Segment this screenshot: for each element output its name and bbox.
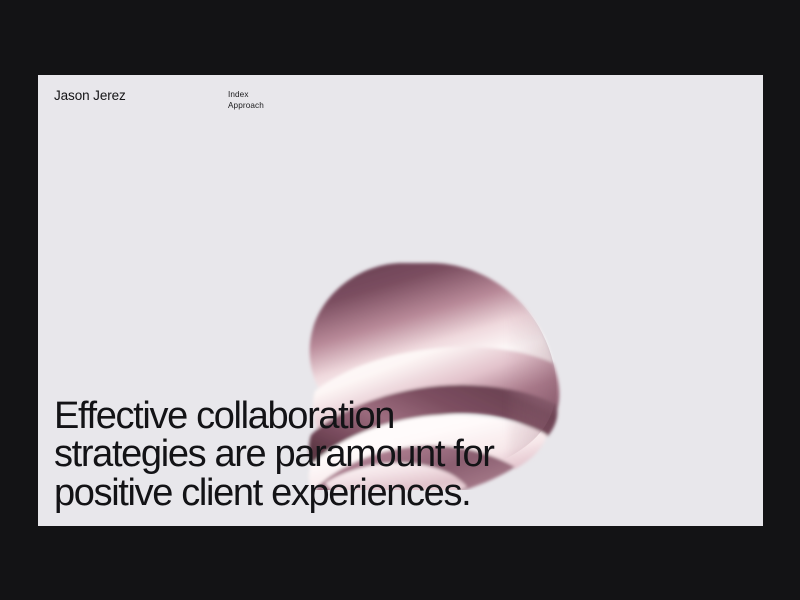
page-title: Effective collaboration strategies are p… [54,397,494,513]
nav-link-index[interactable]: Index [228,90,264,101]
nav-link-approach[interactable]: Approach [228,101,264,112]
site-header: Jason Jerez Index Approach [38,75,763,135]
page-root: Jason Jerez Index Approach [0,0,800,600]
brand-name[interactable]: Jason Jerez [54,89,126,103]
hero-card: Jason Jerez Index Approach [38,75,763,526]
main-nav: Index Approach [228,90,264,111]
